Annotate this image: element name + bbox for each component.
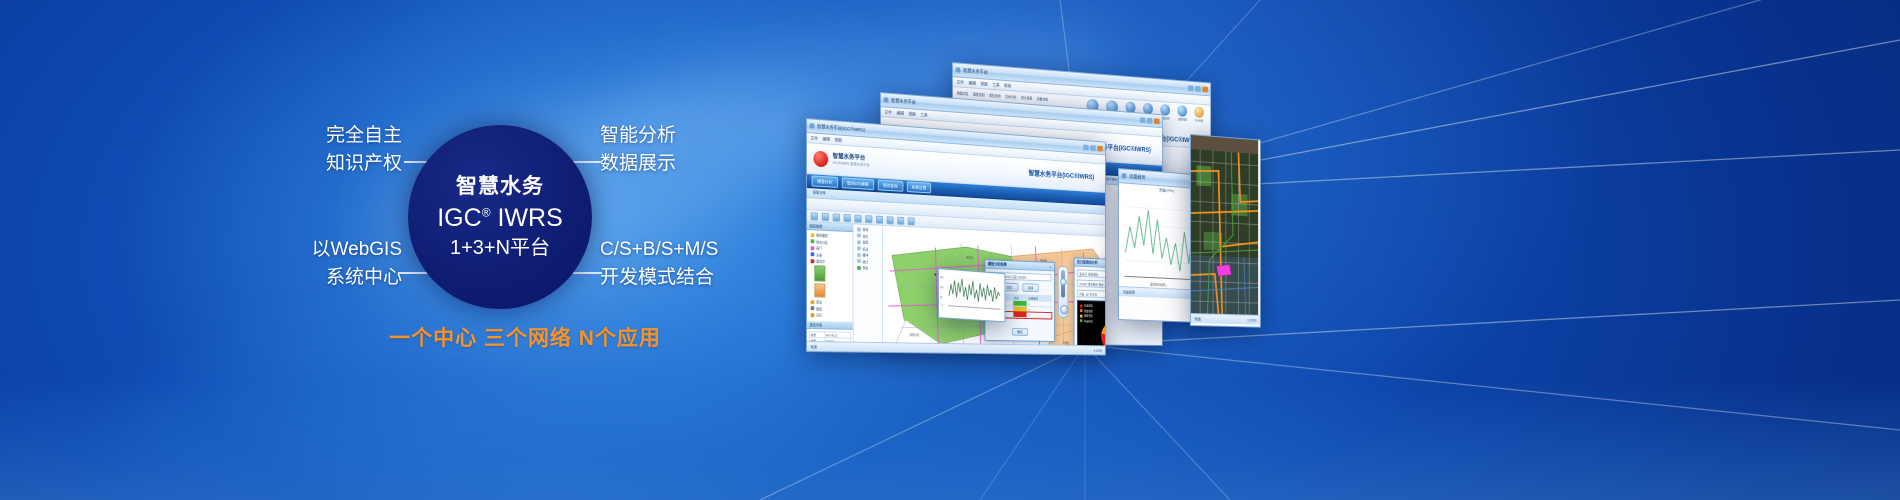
menu-item-3[interactable]: 工具 xyxy=(992,82,999,88)
maximize-icon[interactable] xyxy=(1090,145,1095,151)
layer-swatch-icon xyxy=(811,233,815,237)
palette-item[interactable]: 查询 xyxy=(855,226,880,232)
window-controls[interactable] xyxy=(1188,85,1208,92)
status-right: 1:2000 xyxy=(1094,348,1102,352)
tree-item-label: 管段 xyxy=(816,306,822,311)
label-top-right-line2: 数据展示 xyxy=(600,150,676,178)
legend-item: 预警范围 xyxy=(1080,309,1093,313)
chart-xlabel: 监测时间(时) xyxy=(1150,281,1166,287)
globe-icon xyxy=(1194,106,1204,118)
globe-icon xyxy=(1177,105,1187,117)
monitor-field-1[interactable]: 监测点: 梅花路站 xyxy=(1077,269,1105,279)
ribbon-group-label: 巡检管理 xyxy=(1177,117,1187,121)
menu-item-4[interactable]: 帮助 xyxy=(1004,82,1011,88)
tree-item[interactable]: 管段 xyxy=(809,306,851,312)
sat-status-left: 就绪 xyxy=(1195,316,1201,321)
tree-item-label: 水表 xyxy=(816,252,822,257)
satellite-map-svg xyxy=(1191,135,1258,315)
select-icon[interactable] xyxy=(865,215,872,223)
front-subnav-0[interactable]: 调度决策 xyxy=(812,190,825,196)
label-bottom-left-line2: 系统中心 xyxy=(294,264,402,292)
pan-icon[interactable] xyxy=(854,214,861,222)
minimize-icon[interactable] xyxy=(1140,117,1146,123)
svg-text:城南片区: 城南片区 xyxy=(909,333,919,337)
maximize-icon[interactable] xyxy=(1195,85,1201,91)
chart-window-title: 流量趋势 xyxy=(1129,173,1146,180)
ribbon-row-3[interactable]: 空间分析 xyxy=(1005,94,1016,100)
highlight-polygon xyxy=(1217,264,1232,276)
monitor-dialog[interactable]: 压力监测点分析 × 监测点: 梅花路站 DN300 球墨铸铁 埋深1.8m 时段… xyxy=(1074,257,1105,345)
hub-line-2: IGC® IWRS xyxy=(437,206,563,231)
tool-icon xyxy=(857,253,861,257)
label-bottom-right: C/S+B/S+M/S 开发模式结合 xyxy=(600,236,718,291)
print-icon[interactable] xyxy=(897,216,904,224)
tool-icon xyxy=(857,246,861,250)
ribbon-row-5[interactable]: 设备台账 xyxy=(1037,96,1048,102)
valve-order: 3 xyxy=(1027,312,1051,318)
ribbon-row-0[interactable]: 地图浏览 xyxy=(957,90,969,96)
legend-label: 预警范围 xyxy=(1084,309,1093,313)
layer-swatch-icon xyxy=(811,239,815,243)
legend-swatch-icon xyxy=(1080,319,1082,322)
hub-iwrs: IWRS xyxy=(497,204,562,232)
window-icon xyxy=(956,67,961,72)
monitor-field-3[interactable]: 时段: 近7日平均 xyxy=(1077,290,1105,299)
tree-item-label: 注记 xyxy=(816,312,822,317)
tool-palette[interactable]: 查询 定位 量算 标注 缓冲 统计 导出 xyxy=(854,224,884,342)
gauge-legend: 正常范围 预警范围 报警范围 停运状态 xyxy=(1080,304,1093,325)
menu-item-0[interactable]: 文件 xyxy=(811,135,818,142)
menu-item-3[interactable]: 工具 xyxy=(920,112,927,118)
tool-icon xyxy=(857,240,861,244)
legend-ramp-green xyxy=(814,265,825,281)
minimize-icon[interactable] xyxy=(1083,144,1088,150)
front-nav-btn-2[interactable]: 营收查询 xyxy=(877,179,902,191)
label-bottom-left-line1: 以WebGIS xyxy=(294,236,402,264)
line-chart-2-svg: 150100500 xyxy=(939,269,1003,319)
label-top-left-line2: 知识产权 xyxy=(302,150,402,178)
ribbon-row-4[interactable]: 统计报表 xyxy=(1021,95,1032,101)
zoom-in-icon[interactable] xyxy=(833,213,840,221)
brand-sub-text: IGC®IWRS 智慧水务平台 xyxy=(833,161,870,168)
close-icon[interactable] xyxy=(1154,118,1159,124)
front-nav-btn-0[interactable]: 爆管分析 xyxy=(812,175,838,188)
palette-item[interactable]: 缓冲 xyxy=(855,252,880,258)
palette-item[interactable]: 定位 xyxy=(855,233,880,239)
zoom-slider-handle[interactable] xyxy=(1060,278,1066,286)
status-left: 就绪 xyxy=(811,344,817,349)
menu-item-2[interactable]: 视图 xyxy=(835,137,842,143)
legend-ramp-orange xyxy=(814,283,825,297)
valve-status-swatch xyxy=(1013,312,1028,318)
label-bottom-right-line1: C/S+B/S+M/S xyxy=(600,236,718,264)
menu-item-1[interactable]: 编辑 xyxy=(969,80,976,87)
tool-icon xyxy=(857,227,861,231)
svg-text:0: 0 xyxy=(942,305,944,307)
legend-swatch-icon xyxy=(1080,309,1082,312)
hub-circle: 智慧水务 IGC® IWRS 1+3+N平台 xyxy=(408,125,592,309)
monitor-field-2[interactable]: DN300 球墨铸铁 埋深1.8m xyxy=(1077,280,1105,290)
tool-icon xyxy=(857,265,861,269)
legend-item: 报警范围 xyxy=(1080,314,1093,318)
attr-panel-title: 属性列表 xyxy=(807,321,853,330)
layer-swatch-icon xyxy=(811,306,815,310)
ribbon-group-label: GIS分析 xyxy=(1194,118,1204,122)
save-icon[interactable] xyxy=(822,212,829,220)
floor-glow xyxy=(0,380,1900,500)
middle-window-title: 智慧水务平台 xyxy=(891,97,916,105)
label-top-right: 智能分析 数据展示 xyxy=(600,122,676,177)
monitor-dialog-title: 压力监测点分析 xyxy=(1077,260,1098,265)
tree-item-label: 泵站 xyxy=(816,299,822,304)
tool-icon xyxy=(857,233,861,237)
layer-icon[interactable] xyxy=(908,217,915,225)
menu-item-0[interactable]: 文件 xyxy=(957,79,964,86)
tree-item-label: 阀门 xyxy=(816,245,822,250)
window-icon xyxy=(1122,173,1127,178)
tree-item[interactable]: 阀门 xyxy=(809,245,851,252)
tree-item[interactable]: 水表 xyxy=(809,252,851,259)
front-app-title: 智慧水务平台(IGC®IWRS) xyxy=(1029,168,1101,182)
layer-swatch-icon xyxy=(811,300,815,304)
zoom-out-icon[interactable] xyxy=(844,213,851,221)
svg-text:150: 150 xyxy=(940,277,944,279)
hub-igc: IGC xyxy=(437,204,481,232)
hub-line-3: 1+3+N平台 xyxy=(450,238,550,258)
ribbon-row-1[interactable]: 图层控制 xyxy=(973,91,985,97)
hub-line-1: 智慧水务 xyxy=(456,176,544,197)
front-window-title: 智慧水务平台(IGC®IWRS) xyxy=(817,123,865,133)
layer-tree-title: 图层管理 xyxy=(807,222,853,232)
open-icon[interactable] xyxy=(811,212,818,220)
measure-icon[interactable] xyxy=(876,215,883,223)
svg-text:100: 100 xyxy=(940,287,944,289)
menu-item-2[interactable]: 视图 xyxy=(981,81,988,87)
label-top-right-line1: 智能分析 xyxy=(600,122,676,150)
front-nav-btn-1[interactable]: 管网GIS建模 xyxy=(842,177,874,190)
layer-swatch-icon xyxy=(811,246,815,250)
satellite-statusbar: 就绪 1:2000 xyxy=(1191,313,1260,325)
window-controls[interactable] xyxy=(1140,117,1160,124)
tagline: 一个中心 三个网络 N个应用 xyxy=(360,322,690,352)
tree-item[interactable]: 泵站 xyxy=(809,299,851,305)
ribbon-group-5[interactable]: 巡检管理 xyxy=(1177,105,1187,123)
back-window-title: 智慧水务平台 xyxy=(963,67,988,75)
legend-label: 正常范围 xyxy=(1084,304,1093,308)
legend-label: 停运状态 xyxy=(1084,319,1093,323)
menu-item-0[interactable]: 文件 xyxy=(885,109,892,116)
tree-item[interactable]: 注记 xyxy=(809,312,851,318)
palette-item[interactable]: 统计 xyxy=(855,258,880,264)
tool-icon xyxy=(857,259,861,263)
gauge-panel: 正常范围 预警范围 报警范围 停运状态 瞬时流量 52.23 22% 46% xyxy=(1077,300,1105,346)
maximize-icon[interactable] xyxy=(1147,117,1153,123)
ribbon-group-6[interactable]: GIS分析 xyxy=(1194,106,1204,124)
close-icon[interactable] xyxy=(1097,145,1102,151)
palette-item[interactable]: 标注 xyxy=(855,246,880,252)
map-navigation-pad[interactable] xyxy=(1058,266,1068,318)
company-logo-icon xyxy=(812,149,829,168)
legend-item: 停运状态 xyxy=(1080,319,1093,323)
palette-item[interactable]: 导出 xyxy=(855,265,880,271)
layer-swatch-icon xyxy=(811,313,815,317)
layer-swatch-icon xyxy=(811,252,815,256)
chart-status: 流量趋势 xyxy=(1123,289,1135,295)
layer-tree-panel[interactable]: 图层管理 管网图层 供水分区 阀门 水表 监测点 泵站 管段 注记 属性列表 编… xyxy=(807,222,854,342)
tree-item-label: 供水分区 xyxy=(816,239,828,244)
label-bottom-left: 以WebGIS 系统中心 xyxy=(294,236,402,291)
label-bottom-right-line2: 开发模式结合 xyxy=(600,264,718,292)
pan-compass-icon[interactable] xyxy=(1060,305,1068,314)
legend-swatch-icon xyxy=(1080,304,1082,307)
banner-stage: 智慧水务平台 文件 编辑 视图 工具 帮助 地图浏览 图层控 xyxy=(0,0,1900,500)
close-valve-button[interactable]: 关阀 xyxy=(1022,283,1039,292)
tree-item-label: 监测点 xyxy=(816,258,825,263)
front-nav-btn-3[interactable]: 系统设置 xyxy=(906,181,931,193)
svg-text:开发区: 开发区 xyxy=(1063,341,1070,345)
brand-name: 智慧水务平台 IGC®IWRS 智慧水务平台 xyxy=(833,154,870,168)
menu-item-2[interactable]: 视图 xyxy=(909,111,916,117)
valve-ok-button[interactable]: 确定 xyxy=(1011,328,1028,336)
legend-item: 正常范围 xyxy=(1080,304,1093,308)
label-top-left-line1: 完全自主 xyxy=(302,122,402,150)
close-icon[interactable] xyxy=(1202,86,1208,92)
window-controls[interactable] xyxy=(1083,144,1102,151)
layer-swatch-icon xyxy=(811,259,815,263)
minimize-icon[interactable] xyxy=(1188,85,1194,91)
legend-swatch-icon xyxy=(1080,314,1082,317)
legend-label: 报警范围 xyxy=(1084,314,1093,318)
close-icon[interactable]: × xyxy=(1050,264,1052,269)
registered-icon: ® xyxy=(482,206,491,220)
tree-item-label: 管网图层 xyxy=(816,232,828,238)
menu-item-1[interactable]: 编辑 xyxy=(897,110,904,117)
window-icon xyxy=(810,123,815,128)
gauge-pie-chart xyxy=(1101,322,1105,346)
svg-text:梅花路: 梅花路 xyxy=(966,256,973,260)
tree-item[interactable]: 监测点 xyxy=(809,258,851,265)
sat-status-right: 1:2000 xyxy=(1247,318,1256,322)
svg-text:50: 50 xyxy=(940,297,943,299)
palette-item[interactable]: 量算 xyxy=(855,239,880,245)
valve-dialog-title: 爆管分析结果 xyxy=(988,262,1007,267)
ribbon-row-2[interactable]: 属性查询 xyxy=(989,93,1001,99)
window-icon xyxy=(884,97,889,102)
menu-item-1[interactable]: 编辑 xyxy=(823,136,830,143)
identify-icon[interactable] xyxy=(887,216,894,224)
label-top-left: 完全自主 知识产权 xyxy=(302,122,402,177)
